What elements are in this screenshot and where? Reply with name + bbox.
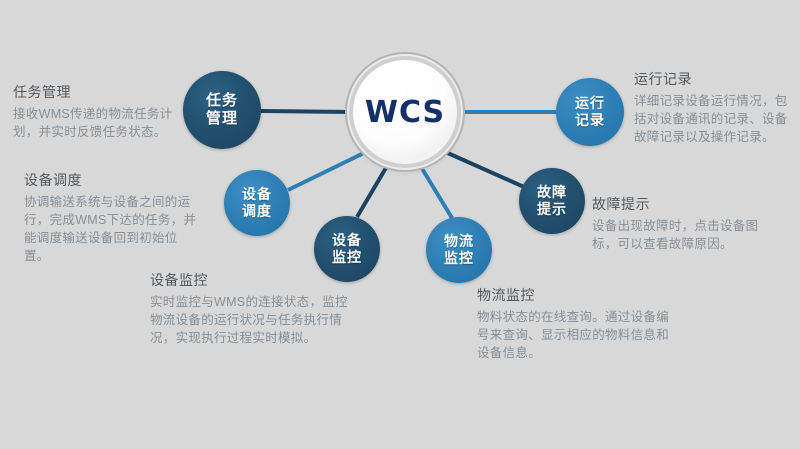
node-fault-alert[interactable]: 故障提示	[519, 168, 585, 234]
node-label-line2: 提示	[537, 201, 567, 218]
diagram-canvas: 任务管理设备调度设备监控物流监控故障提示运行记录 WCS 任务管理接收WMS传递…	[0, 0, 800, 449]
description-body: 物料状态的在线查询。通过设备编号来查询、显示相应的物料信息和设备信息。	[477, 308, 669, 362]
description-title: 设备调度	[24, 172, 199, 189]
connector-hub-to-task-management	[261, 111, 353, 112]
node-label-line2: 监控	[444, 250, 474, 267]
hub-node-wcs[interactable]: WCS	[353, 60, 457, 164]
description-body: 协调输送系统与设备之间的运行，完成WMS下达的任务，并能调度输送设备回到初始位置…	[24, 193, 199, 266]
connector-hub-to-equipment-scheduling	[288, 150, 370, 190]
node-label-line1: 运行	[575, 95, 605, 112]
description-body: 详细记录设备运行情况，包括对设备通讯的记录、设备故障记录以及操作记录。	[634, 92, 794, 146]
node-equipment-scheduling[interactable]: 设备调度	[224, 170, 290, 236]
node-operation-log[interactable]: 运行记录	[556, 78, 624, 146]
node-label-line2: 记录	[575, 112, 605, 129]
node-label-line1: 设备	[332, 232, 362, 249]
connector-hub-to-equipment-monitoring	[357, 161, 390, 217]
description-task-management: 任务管理接收WMS传递的物流任务计划，并实时反馈任务状态。	[13, 84, 185, 141]
description-equipment-monitoring: 设备监控实时监控与WMS的连接状态，监控物流设备的运行状况与任务执行情况，实现执…	[150, 272, 355, 347]
node-label-line2: 监控	[332, 249, 362, 266]
node-label-line1: 任务	[206, 92, 238, 110]
description-logistics-monitoring: 物流监控物料状态的在线查询。通过设备编号来查询、显示相应的物料信息和设备信息。	[477, 287, 669, 362]
node-label-line2: 管理	[206, 110, 238, 128]
node-label-line1: 物流	[444, 233, 474, 250]
description-title: 任务管理	[13, 84, 185, 101]
description-body: 接收WMS传递的物流任务计划，并实时反馈任务状态。	[13, 105, 185, 141]
hub-label: WCS	[365, 95, 445, 130]
description-title: 设备监控	[150, 272, 355, 289]
node-label-line2: 调度	[242, 203, 272, 220]
connector-hub-to-logistics-monitoring	[418, 162, 452, 218]
description-fault-alert: 故障提示设备出现故障时，点击设备图标，可以查看故障原因。	[592, 196, 782, 253]
node-label-line1: 设备	[242, 186, 272, 203]
description-title: 物流监控	[477, 287, 669, 304]
description-title: 运行记录	[634, 71, 794, 88]
node-logistics-monitoring[interactable]: 物流监控	[426, 217, 492, 283]
description-body: 实时监控与WMS的连接状态，监控物流设备的运行状况与任务执行情况，实现执行过程实…	[150, 293, 355, 347]
description-equipment-scheduling: 设备调度协调输送系统与设备之间的运行，完成WMS下达的任务，并能调度输送设备回到…	[24, 172, 199, 265]
description-operation-log: 运行记录详细记录设备运行情况，包括对设备通讯的记录、设备故障记录以及操作记录。	[634, 71, 794, 146]
connector-hub-to-fault-alert	[441, 150, 524, 187]
node-label-line1: 故障	[537, 184, 567, 201]
description-title: 故障提示	[592, 196, 782, 213]
description-body: 设备出现故障时，点击设备图标，可以查看故障原因。	[592, 217, 782, 253]
node-task-management[interactable]: 任务管理	[183, 71, 261, 149]
